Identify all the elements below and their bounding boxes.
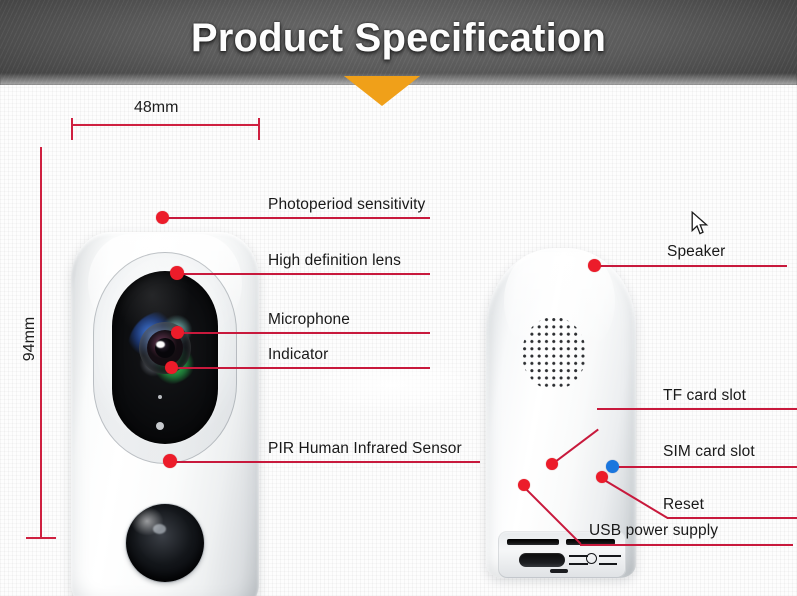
leader-pir [170,461,480,463]
cursor-arrow-icon [691,211,709,237]
tf-card-slot [507,539,559,545]
marker-sim [606,460,619,473]
marker-reset [596,471,608,483]
dimension-width-label: 48mm [134,99,178,117]
callout-indicator: Indicator [268,346,328,364]
reset-pinhole [599,553,625,567]
port-tab [550,569,568,573]
indicator-led [156,422,164,430]
marker-microphone [171,326,184,339]
marker-speaker [588,259,601,272]
front-device-view [71,232,259,596]
front-glass-panel [112,271,218,444]
lens-highlight [156,341,165,348]
dimension-height-label: 94mm [21,317,39,361]
mouse-pointer [691,211,709,237]
pir-sensor-dome [126,504,204,582]
speaker-grille-icon [522,317,586,390]
callout-lens: High definition lens [268,252,401,270]
camera-lens-icon [128,311,202,385]
callout-photoperiod: Photoperiod sensitivity [268,196,425,214]
leader-indicator [172,367,430,369]
leader-photoperiod [162,217,430,219]
marker-usb [518,479,530,491]
leader-usb-horizontal [580,544,793,546]
dimension-width-cap-left [71,118,73,140]
callout-tf: TF card slot [663,387,746,405]
leader-sim [615,466,797,468]
marker-tf [546,458,558,470]
dimension-width-cap-right [258,118,260,140]
callout-reset: Reset [663,496,704,514]
callout-usb: USB power supply [589,522,718,540]
marker-lens [170,266,184,280]
marker-indicator [165,361,178,374]
leader-tf-horizontal [597,408,797,410]
callout-sim: SIM card slot [663,443,755,461]
port-decoration-left [569,553,599,567]
usb-port [519,553,565,567]
product-specification-image: Product Specification 48mm 94mm 52.mm [0,0,797,596]
marker-photoperiod [156,211,169,224]
reset-line-top [599,555,621,557]
microphone-hole [158,395,162,399]
orange-down-arrow-icon [344,76,420,106]
callout-microphone: Microphone [268,311,350,329]
header-banner: Product Specification [0,0,797,85]
dimension-width-line [71,124,259,126]
callout-pir: PIR Human Infrared Sensor [268,440,462,458]
leader-lens [178,273,430,275]
leader-speaker [595,265,787,267]
callout-speaker: Speaker [667,243,725,261]
dimension-height-line [40,147,42,539]
marker-pir [163,454,177,468]
dimension-height-cap-bottom [26,537,56,539]
content-area: 48mm 94mm 52.mm [0,85,797,596]
leader-microphone [178,332,430,334]
page-title: Product Specification [0,0,797,85]
leader-reset-horizontal [667,517,797,519]
reset-line-bottom [599,563,617,565]
port-line-bottom [569,563,588,565]
